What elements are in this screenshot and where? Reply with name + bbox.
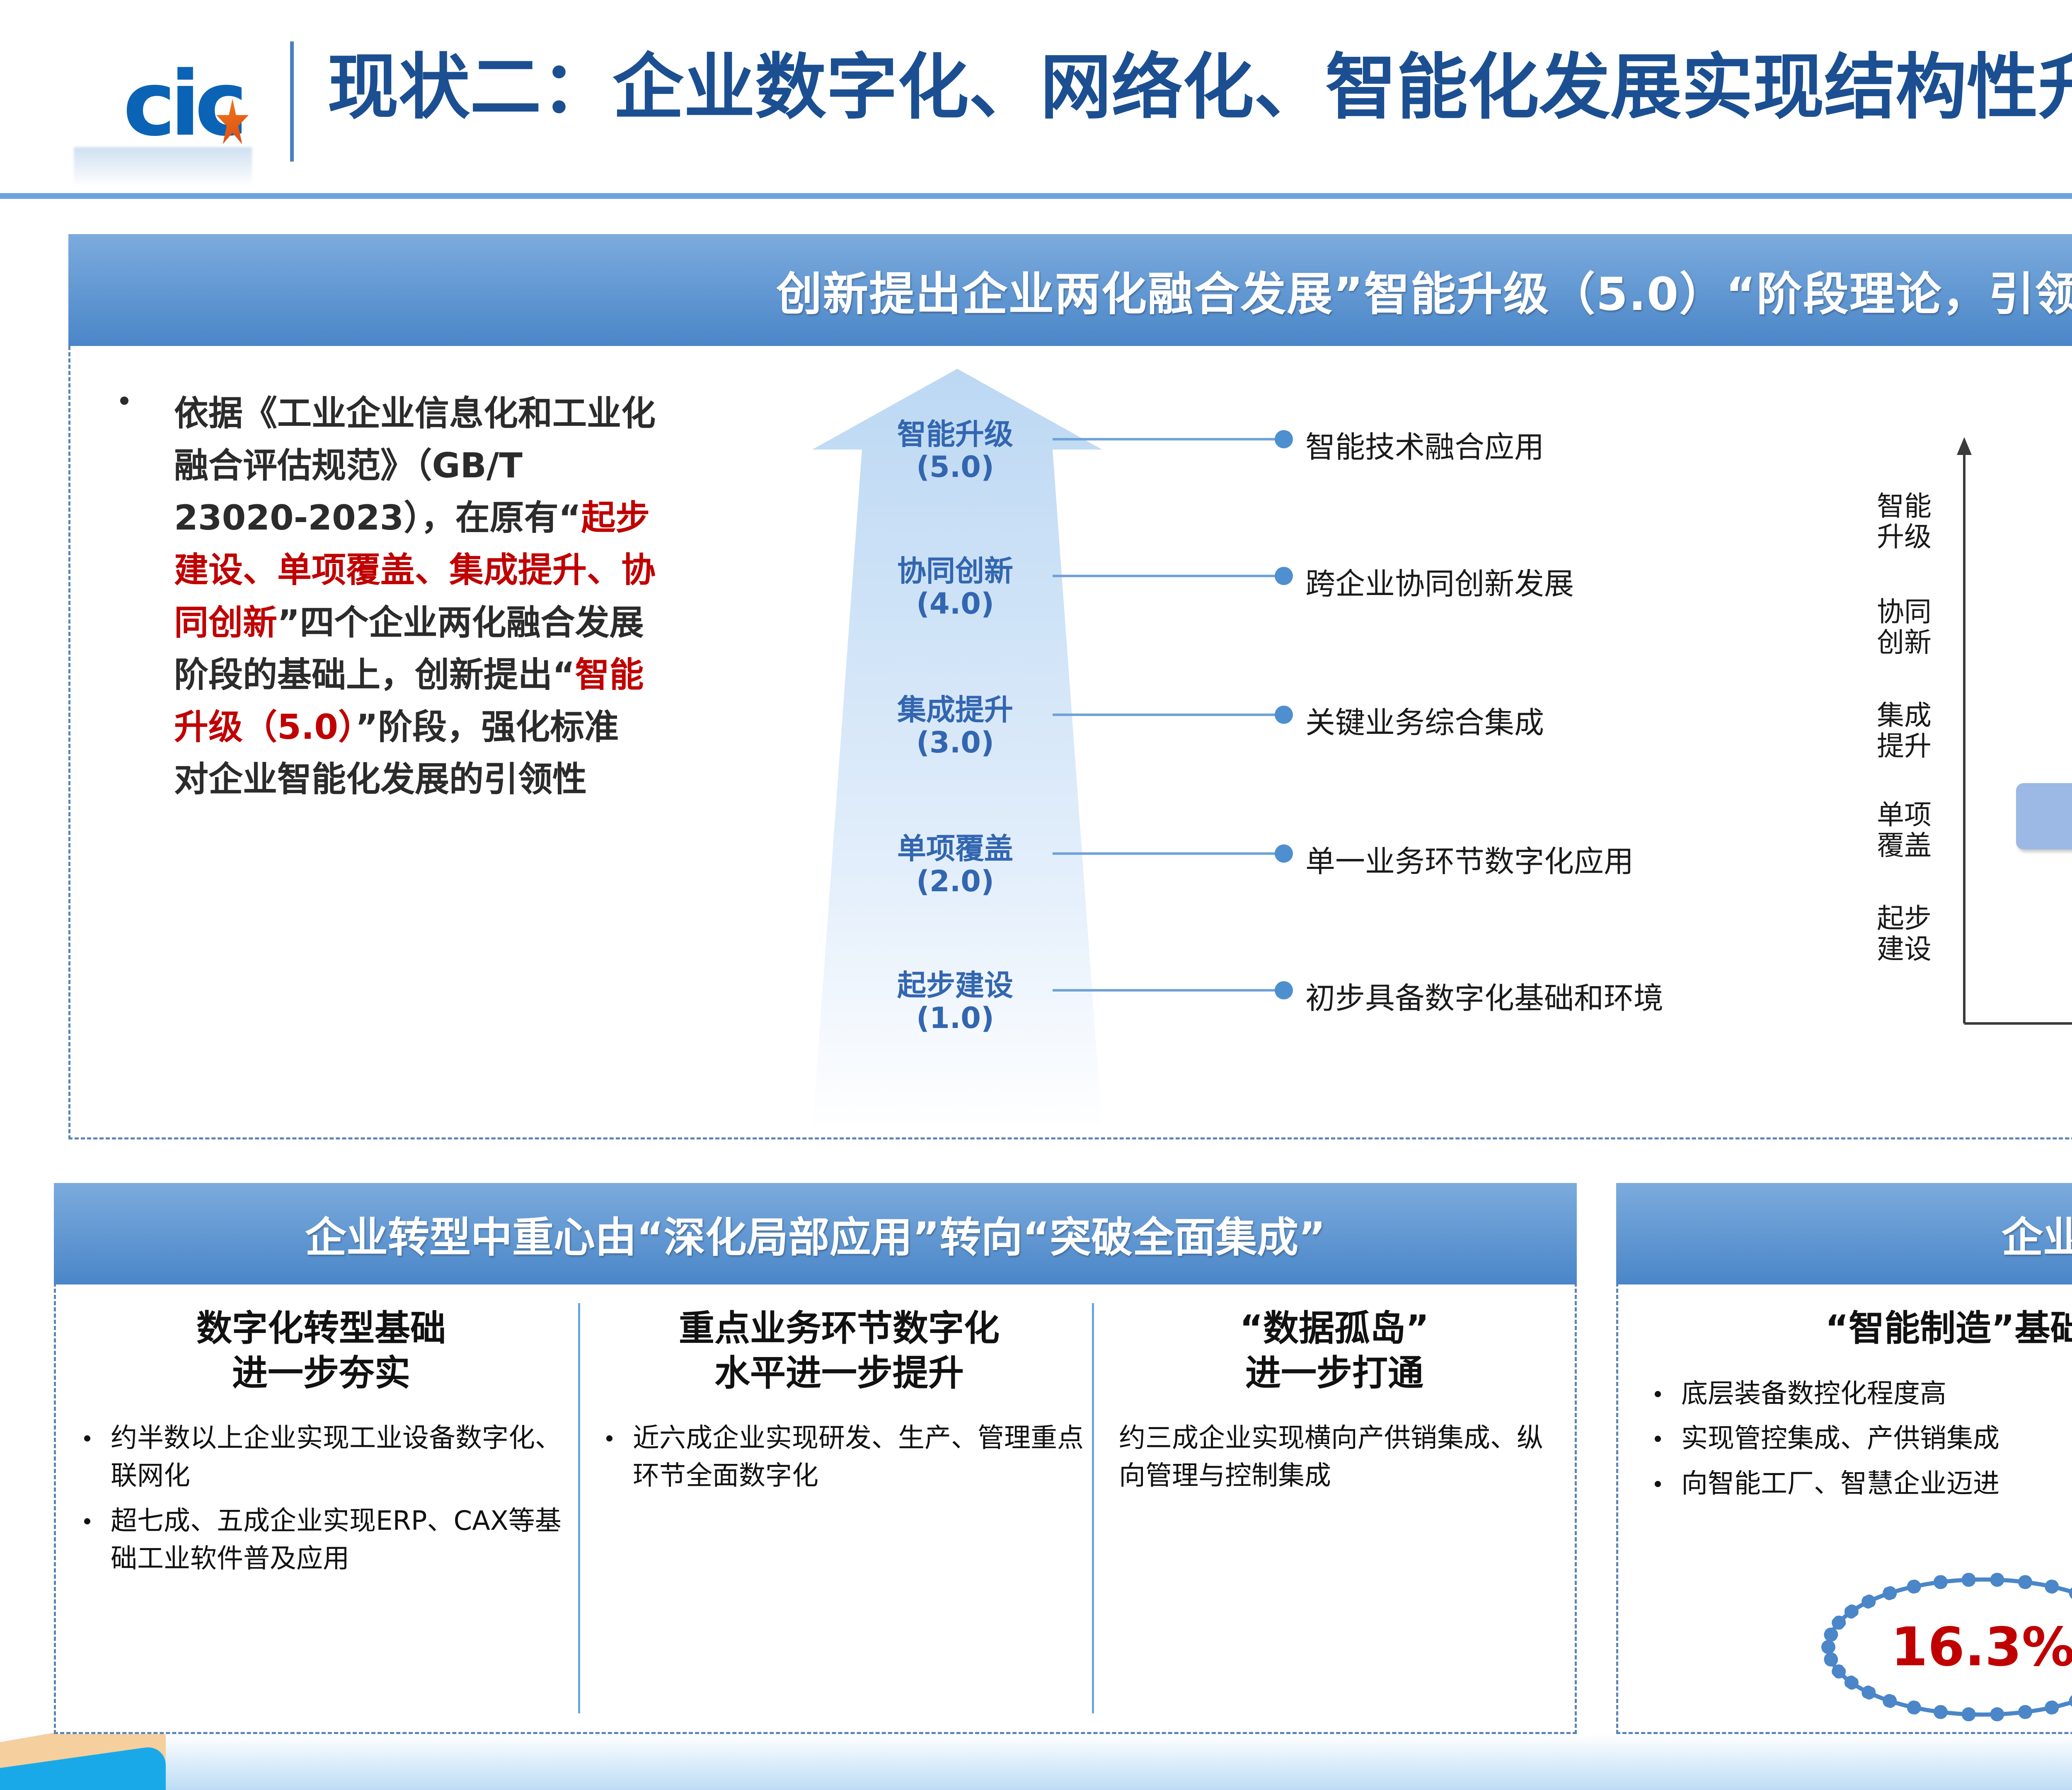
stage-desc-4: 跨企业协同创新发展	[1305, 559, 1574, 603]
stage-desc-2: 单一业务环节数字化应用	[1305, 837, 1634, 880]
stage-label-1: 起步建设 (1.0)	[827, 970, 1084, 1035]
logo-reflection	[74, 147, 252, 186]
cic-logo: cic	[70, 50, 294, 157]
panel1-bullet-text: 依据《工业企业信息化和工业化 融合评估规范》（GB/T 23020-2023），…	[112, 387, 758, 805]
list-item: 近六成企业实现研发、生产、管理重点环节全面数字化	[595, 1420, 1084, 1495]
page-title: 现状二：企业数字化、网络化、智能化发展实现结构性升级	[327, 45, 2072, 130]
panel2-divider-2	[1092, 1303, 1094, 1713]
panel1-heading: 创新提出企业两化融合发展”智能升级（5.0）“阶段理论，引领企业智能化发展	[68, 234, 2072, 346]
stage-desc-1: 初步具备数字化基础和环境	[1305, 974, 1663, 1017]
panel3-col1-title: “智能制造”基础就绪	[1643, 1287, 2072, 1351]
bottom-gradient-band	[0, 1734, 2072, 1790]
chart-cat-3: 集成提升	[1852, 700, 1956, 762]
panel2-divider-1	[578, 1303, 580, 1713]
list-item: 向智能工厂、智慧企业迈进	[1643, 1465, 2072, 1503]
panel2-col-3: “数据孤岛” 进一步打通 约三成企业实现横向产供销集成、纵向管理与控制集成	[1111, 1287, 1558, 1734]
panel-stage-theory: 创新提出企业两化融合发展”智能升级（5.0）“阶段理论，引领企业智能化发展 依据…	[68, 234, 2072, 1139]
panel3-col-1: “智能制造”基础就绪 底层装备数控化程度高 实现管控集成、产供销集成 向智能工厂…	[1643, 1287, 2072, 1734]
chart-cat-5: 智能升级	[1852, 491, 1956, 552]
chart-cat-4: 协同创新	[1852, 597, 1956, 658]
p1-line5-hl: 同创新	[174, 602, 277, 643]
stage-ladder-diagram: 智能升级 (5.0) 协同创新 (4.0) 集成提升 (3.0) 单项覆盖 (2…	[787, 360, 1368, 1131]
stage-labels: 智能升级 (5.0) 协同创新 (4.0) 集成提升 (3.0) 单项覆盖 (2…	[827, 360, 1084, 1131]
panel-transformation-focus: 企业转型中重心由“深化局部应用”转向“突破全面集成” 数字化转型基础 进一步夯实…	[54, 1183, 1577, 1734]
panel2-col2-list: 近六成企业实现研发、生产、管理重点环节全面数字化	[595, 1420, 1084, 1495]
bullet-dot-icon	[120, 397, 128, 405]
p1-line7-hl: 升级（5.0）	[174, 707, 356, 747]
panel1-body: 依据《工业企业信息化和工业化 融合评估规范》（GB/T 23020-2023），…	[70, 348, 2072, 1139]
p1-line2: 融合评估规范》（GB/T	[174, 445, 523, 486]
list-item: 约半数以上企业实现工业设备数字化、联网化	[73, 1420, 570, 1495]
stage-label-3: 集成提升 (3.0)	[827, 694, 1084, 760]
slide-root: cic 现状二：企业数字化、网络化、智能化发展实现结构性升级 创新提出企业两化融…	[0, 0, 2072, 1790]
chart-cat-2: 单项覆盖	[1852, 800, 1956, 861]
stage-desc-3: 关键业务综合集成	[1305, 698, 1544, 742]
chart-cat-1: 起步建设	[1852, 903, 1956, 965]
panel2-body: 数字化转型基础 进一步夯实 约半数以上企业实现工业设备数字化、联网化 超七成、五…	[56, 1287, 1575, 1734]
header-divider	[290, 41, 294, 162]
p1-line8: 对企业智能化发展的引领性	[174, 759, 587, 799]
panel2-col3-list: 约三成企业实现横向产供销集成、纵向管理与控制集成	[1111, 1420, 1558, 1495]
logo-wordmark: cic	[123, 59, 242, 148]
list-item: 实现管控集成、产供销集成	[1643, 1420, 2072, 1458]
list-item: 底层装备数控化程度高	[1643, 1375, 2072, 1413]
stage-label-2: 单项覆盖 (2.0)	[827, 833, 1084, 898]
stage-descriptions: 智能技术融合应用 跨企业协同创新发展 关键业务综合集成 单一业务环节数字化应用 …	[1305, 360, 1906, 1131]
panel3-badge-1: 16.3%	[1821, 1572, 2072, 1722]
panel3-heading: 企业智能化发展从概念普及走向实践深耕	[1616, 1183, 2072, 1284]
panel3-col1-list: 底层装备数控化程度高 实现管控集成、产供销集成 向智能工厂、智慧企业迈进	[1643, 1375, 2072, 1503]
stage-desc-5: 智能技术融合应用	[1305, 423, 1544, 466]
panel-intelligent-development: 企业智能化发展从概念普及走向实践深耕 “智能制造”基础就绪 底层装备数控化程度高…	[1616, 1183, 2072, 1734]
panel2-col2-title: 重点业务环节数字化 水平进一步提升	[595, 1287, 1084, 1396]
stage-label-5: 智能升级 (5.0)	[827, 418, 1084, 484]
panel2-col1-title: 数字化转型基础 进一步夯实	[73, 1287, 570, 1396]
panel3-body: “智能制造”基础就绪 底层装备数控化程度高 实现管控集成、产供销集成 向智能工厂…	[1618, 1287, 2072, 1734]
distribution-bar-chart: 2020年/2024年我国企业两化融合发展阶段分布对比 智能升级 协同创新 集成…	[1840, 352, 2072, 1135]
header-rule	[0, 193, 2072, 199]
stage-label-4: 协同创新 (4.0)	[827, 555, 1084, 621]
p1-line3-hl: 起步	[581, 498, 650, 538]
panel2-heading: 企业转型中重心由“深化局部应用”转向“突破全面集成”	[54, 1183, 1577, 1284]
slide-header: cic 现状二：企业数字化、网络化、智能化发展实现结构性升级	[0, 0, 2072, 195]
panel2-col1-list: 约半数以上企业实现工业设备数字化、联网化 超七成、五成企业实现ERP、CAX等基…	[73, 1420, 570, 1578]
p1-line1: 依据《工业企业信息化和工业化	[174, 393, 656, 433]
p1-line3: 23020-2023），在原有“	[174, 498, 581, 538]
panel2-col-1: 数字化转型基础 进一步夯实 约半数以上企业实现工业设备数字化、联网化 超七成、五…	[73, 1287, 570, 1734]
badge-value: 16.3%	[1891, 1616, 2072, 1678]
list-item: 超七成、五成企业实现ERP、CAX等基础工业软件普及应用	[73, 1502, 570, 1578]
p1-line6: 阶段的基础上，创新提出“	[174, 655, 575, 695]
panel2-col-2: 重点业务环节数字化 水平进一步提升 近六成企业实现研发、生产、管理重点环节全面数…	[595, 1287, 1084, 1734]
p1-line5: ”四个企业两化融合发展	[277, 602, 644, 643]
list-item: 约三成企业实现横向产供销集成、纵向管理与控制集成	[1111, 1420, 1558, 1495]
p1-line4-hl: 建设、单项覆盖、集成提升、协	[174, 550, 656, 590]
panel2-col3-title: “数据孤岛” 进一步打通	[1111, 1287, 1558, 1396]
chart-bar-2020-danxiang: 51.9%	[2016, 783, 2072, 849]
p1-line7: ”阶段，强化标准	[356, 707, 619, 747]
p1-line6-hl: 智能	[575, 655, 644, 695]
